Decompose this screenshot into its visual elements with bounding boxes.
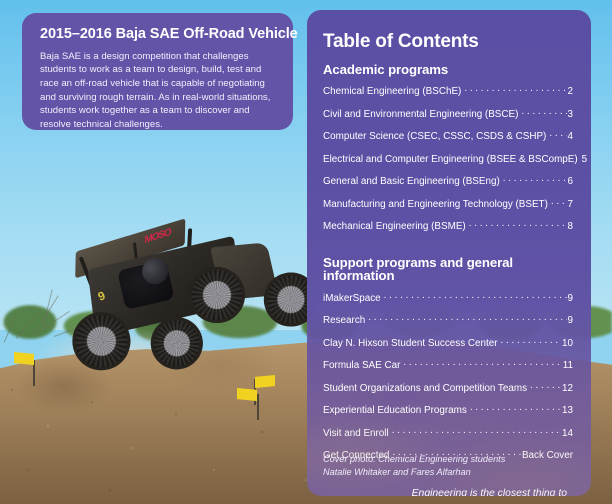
toc-leader-dots bbox=[469, 219, 567, 229]
toc-entry-page: 6 bbox=[568, 177, 574, 187]
toc-entry-label: Research bbox=[323, 316, 365, 326]
toc-list-support: iMakerSpace 9 Research 9 Clay N. Hixson … bbox=[321, 291, 573, 461]
toc-section-heading-academic: Academic programs bbox=[323, 63, 573, 76]
toc-entry-label: Computer Science (CSEC, CSSC, CSDS & CSH… bbox=[323, 132, 546, 142]
toc-entry[interactable]: Mechanical Engineering (BSME) 8 bbox=[323, 219, 573, 232]
toc-entry-label: Formula SAE Car bbox=[323, 361, 400, 371]
toc-entry-page: 11 bbox=[563, 361, 573, 371]
toc-entry-page: 3 bbox=[568, 110, 574, 120]
toc-leader-dots bbox=[501, 336, 561, 346]
toc-entry-page: 9 bbox=[568, 294, 574, 304]
toc-leader-dots bbox=[530, 381, 561, 391]
toc-entry-page: 2 bbox=[568, 87, 574, 97]
toc-entry-page: Back Cover bbox=[522, 451, 573, 461]
toc-list-academic: Chemical Engineering (BSChE) 2 Civil and… bbox=[321, 84, 573, 232]
toc-entry-label: General and Basic Engineering (BSEng) bbox=[323, 177, 500, 187]
toc-entry[interactable]: Experiential Education Programs 13 bbox=[323, 403, 573, 416]
toc-entry-page: 9 bbox=[568, 316, 574, 326]
toc-entry[interactable]: Student Organizations and Competition Te… bbox=[323, 381, 573, 394]
quote-line-1: Engineering is the closest thing to bbox=[412, 488, 567, 496]
toc-leader-dots bbox=[551, 197, 567, 207]
toc-entry-label: Civil and Environmental Engineering (BSC… bbox=[323, 110, 518, 120]
toc-leader-dots bbox=[521, 107, 566, 117]
table-of-contents-panel: Table of Contents Academic programs Chem… bbox=[307, 10, 591, 496]
toc-entry[interactable]: General and Basic Engineering (BSEng) 6 bbox=[323, 174, 573, 187]
toc-entry-page: 14 bbox=[562, 429, 573, 439]
toc-leader-dots bbox=[470, 403, 561, 413]
toc-entry-page: 13 bbox=[562, 406, 573, 416]
pull-quote: Engineering is the closest thing to magi… bbox=[321, 487, 567, 496]
toc-leader-dots bbox=[384, 291, 567, 301]
toc-entry[interactable]: Civil and Environmental Engineering (BSC… bbox=[323, 107, 573, 120]
toc-entry[interactable]: Visit and Enroll 14 bbox=[323, 426, 573, 439]
toc-entry-page: 4 bbox=[568, 132, 574, 142]
toc-entry-page: 7 bbox=[568, 200, 574, 210]
page-title: Table of Contents bbox=[323, 32, 573, 51]
intro-title: 2015–2016 Baja SAE Off-Road Vehicle bbox=[40, 26, 275, 43]
toc-leader-dots bbox=[549, 129, 566, 139]
toc-entry[interactable]: Formula SAE Car 11 bbox=[323, 358, 573, 371]
toc-entry-label: Visit and Enroll bbox=[323, 429, 389, 439]
toc-entry[interactable]: Computer Science (CSEC, CSSC, CSDS & CSH… bbox=[323, 129, 573, 142]
toc-entry[interactable]: iMakerSpace 9 bbox=[323, 291, 573, 304]
toc-entry[interactable]: Electrical and Computer Engineering (BSE… bbox=[323, 152, 573, 165]
toc-entry-label: Experiential Education Programs bbox=[323, 406, 467, 416]
toc-entry-page: 5 bbox=[582, 155, 588, 165]
photo-credit: Cover photo: Chemical Engineering studen… bbox=[323, 453, 505, 479]
toc-entry-label: Clay N. Hixson Student Success Center bbox=[323, 339, 498, 349]
toc-entry-label: Electrical and Computer Engineering (BSE… bbox=[323, 155, 578, 165]
toc-entry-page: 8 bbox=[568, 222, 574, 232]
toc-entry-label: Mechanical Engineering (BSME) bbox=[323, 222, 466, 232]
toc-entry-label: Manufacturing and Engineering Technology… bbox=[323, 200, 548, 210]
toc-leader-dots bbox=[392, 426, 561, 436]
toc-entry[interactable]: Manufacturing and Engineering Technology… bbox=[323, 197, 573, 210]
toc-leader-dots bbox=[464, 84, 566, 94]
toc-entry-page: 12 bbox=[562, 384, 573, 394]
toc-entry-page: 10 bbox=[562, 339, 573, 349]
brochure-cover-page: MOSO 9 2015–2016 Baj bbox=[0, 0, 612, 504]
toc-entry[interactable]: Chemical Engineering (BSChE) 2 bbox=[323, 84, 573, 97]
toc-leader-dots bbox=[403, 358, 561, 368]
photo-credit-line-2: Natalie Whitaker and Fares Alfarhan bbox=[323, 466, 505, 479]
toc-entry-label: Student Organizations and Competition Te… bbox=[323, 384, 527, 394]
toc-leader-dots bbox=[368, 313, 566, 323]
intro-body: Baja SAE is a design competition that ch… bbox=[40, 50, 275, 132]
toc-section-heading-support: Support programs and general information bbox=[323, 256, 573, 282]
intro-card: 2015–2016 Baja SAE Off-Road Vehicle Baja… bbox=[22, 13, 293, 130]
toc-entry-label: iMakerSpace bbox=[323, 294, 381, 304]
toc-leader-dots bbox=[503, 174, 567, 184]
photo-credit-line-1: Cover photo: Chemical Engineering studen… bbox=[323, 453, 505, 466]
toc-entry-label: Chemical Engineering (BSChE) bbox=[323, 87, 461, 97]
toc-entry[interactable]: Clay N. Hixson Student Success Center 10 bbox=[323, 336, 573, 349]
toc-entry[interactable]: Research 9 bbox=[323, 313, 573, 326]
